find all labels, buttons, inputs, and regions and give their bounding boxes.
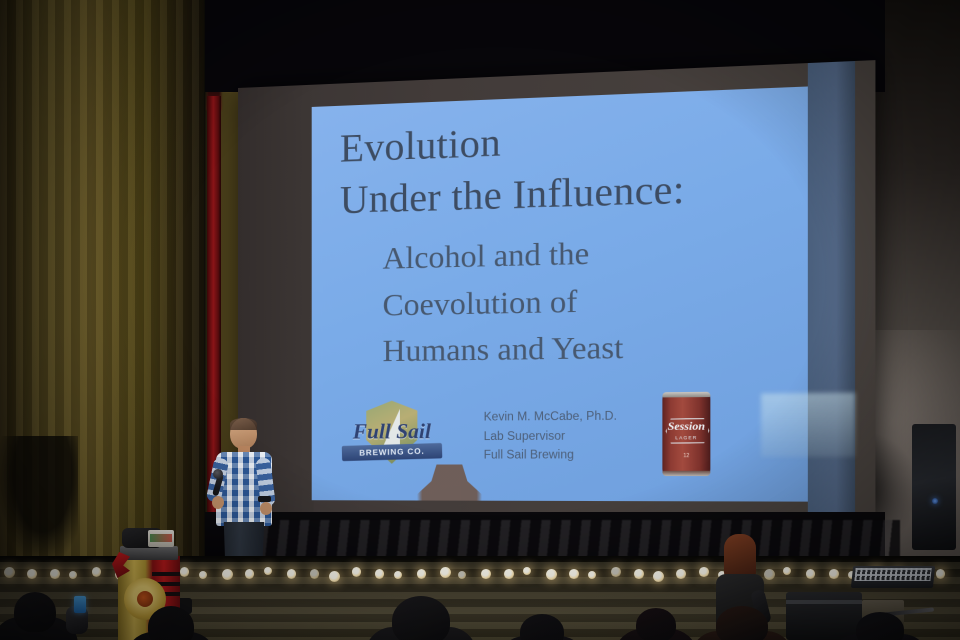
session-lager-can: Session LAGER 12 bbox=[662, 392, 710, 476]
presenter-credits: Kevin M. McCabe, Ph.D. Lab Supervisor Fu… bbox=[484, 407, 617, 465]
presenter-right-hand bbox=[260, 502, 272, 515]
footlight-bulb bbox=[287, 569, 297, 579]
cast-shadow-on-drape bbox=[0, 436, 78, 560]
audience-member-head bbox=[148, 606, 194, 640]
presenter-hair bbox=[230, 418, 257, 430]
footlight-bulb bbox=[50, 569, 60, 579]
slide-subtitle-block: Alcohol and the Coevolution of Humans an… bbox=[340, 224, 797, 373]
footlight-bulb bbox=[375, 569, 385, 579]
screenshot-root: Evolution Under the Influence: Alcohol a… bbox=[0, 0, 960, 640]
can-volume-text: 12 bbox=[666, 453, 707, 461]
footlight-bulb bbox=[676, 569, 686, 579]
footlight-bulb bbox=[481, 569, 491, 579]
footlight-bulb bbox=[69, 571, 77, 579]
footlight-bulb bbox=[264, 567, 272, 575]
footlight-bulb bbox=[245, 569, 255, 579]
credit-name: Kevin M. McCabe, Ph.D. bbox=[484, 407, 617, 427]
can-brand-text: Session bbox=[666, 420, 707, 433]
microphone-capsule bbox=[213, 469, 223, 479]
footlight-bulb bbox=[180, 567, 190, 577]
audience-phone-screen bbox=[74, 596, 86, 613]
audience-member-head bbox=[14, 592, 56, 632]
logo-wordmark: Full Sail bbox=[338, 419, 446, 445]
can-style-text: LAGER bbox=[666, 435, 707, 440]
audience-member-head bbox=[716, 606, 768, 640]
footlight-bulb bbox=[417, 569, 427, 579]
footlight-bulb bbox=[783, 567, 791, 575]
footlight-bulb bbox=[569, 569, 579, 579]
footlight-bulb bbox=[936, 569, 946, 579]
footlight-bulb bbox=[222, 569, 233, 580]
footlight-bulb bbox=[653, 571, 664, 582]
audience-member-head bbox=[856, 612, 904, 640]
presentation-slide: Evolution Under the Influence: Alcohol a… bbox=[312, 86, 808, 501]
footlight-bulb bbox=[394, 571, 402, 579]
credit-role: Lab Supervisor bbox=[484, 427, 617, 447]
subtitle-line-3: Humans and Yeast bbox=[383, 321, 797, 374]
mixer-controls bbox=[854, 568, 931, 581]
full-sail-logo: Full Sail BREWING CO. bbox=[338, 400, 446, 476]
footlight-bulb bbox=[27, 569, 37, 579]
logo-banner-text: BREWING CO. bbox=[342, 443, 443, 461]
footlight-bulb bbox=[806, 569, 816, 579]
footlight-bulb bbox=[523, 567, 531, 575]
footlight-bulb bbox=[829, 569, 839, 579]
footlight-bulb bbox=[588, 571, 596, 579]
footlight-bulb bbox=[546, 569, 557, 580]
footlight-bulb bbox=[199, 571, 207, 579]
speaker-power-led bbox=[932, 498, 938, 504]
screen-light-patch bbox=[761, 393, 855, 457]
footlight-bulb bbox=[4, 567, 15, 578]
footlight-bulb bbox=[352, 567, 362, 577]
footlight-bulb bbox=[440, 567, 451, 578]
podium-box-label bbox=[150, 534, 172, 542]
slide-title-block: Evolution Under the Influence: Alcohol a… bbox=[340, 106, 797, 374]
can-lid bbox=[662, 392, 710, 398]
footlight-bulb bbox=[611, 567, 621, 577]
audience-member-head bbox=[636, 608, 676, 640]
pa-speaker bbox=[912, 424, 956, 550]
equipment-case-trim bbox=[786, 600, 862, 604]
footlight-bulb bbox=[699, 567, 709, 577]
credit-company: Full Sail Brewing bbox=[484, 446, 617, 466]
footlight-bulb bbox=[634, 569, 644, 579]
logo-banner: BREWING CO. bbox=[342, 443, 443, 461]
footlight-bulb bbox=[329, 571, 340, 582]
can-base bbox=[662, 471, 710, 476]
podium-medallion-center bbox=[137, 591, 153, 607]
footlight-bulb bbox=[92, 567, 102, 577]
footlight-bulb bbox=[504, 569, 514, 579]
footlight-bulb bbox=[310, 569, 320, 579]
presenter-left-hand bbox=[212, 496, 224, 509]
subtitle-line-2: Coevolution of bbox=[383, 273, 797, 328]
projection-screen: Evolution Under the Influence: Alcohol a… bbox=[238, 60, 875, 521]
audience-member-head bbox=[392, 596, 450, 640]
footlight-bulb bbox=[458, 571, 466, 579]
